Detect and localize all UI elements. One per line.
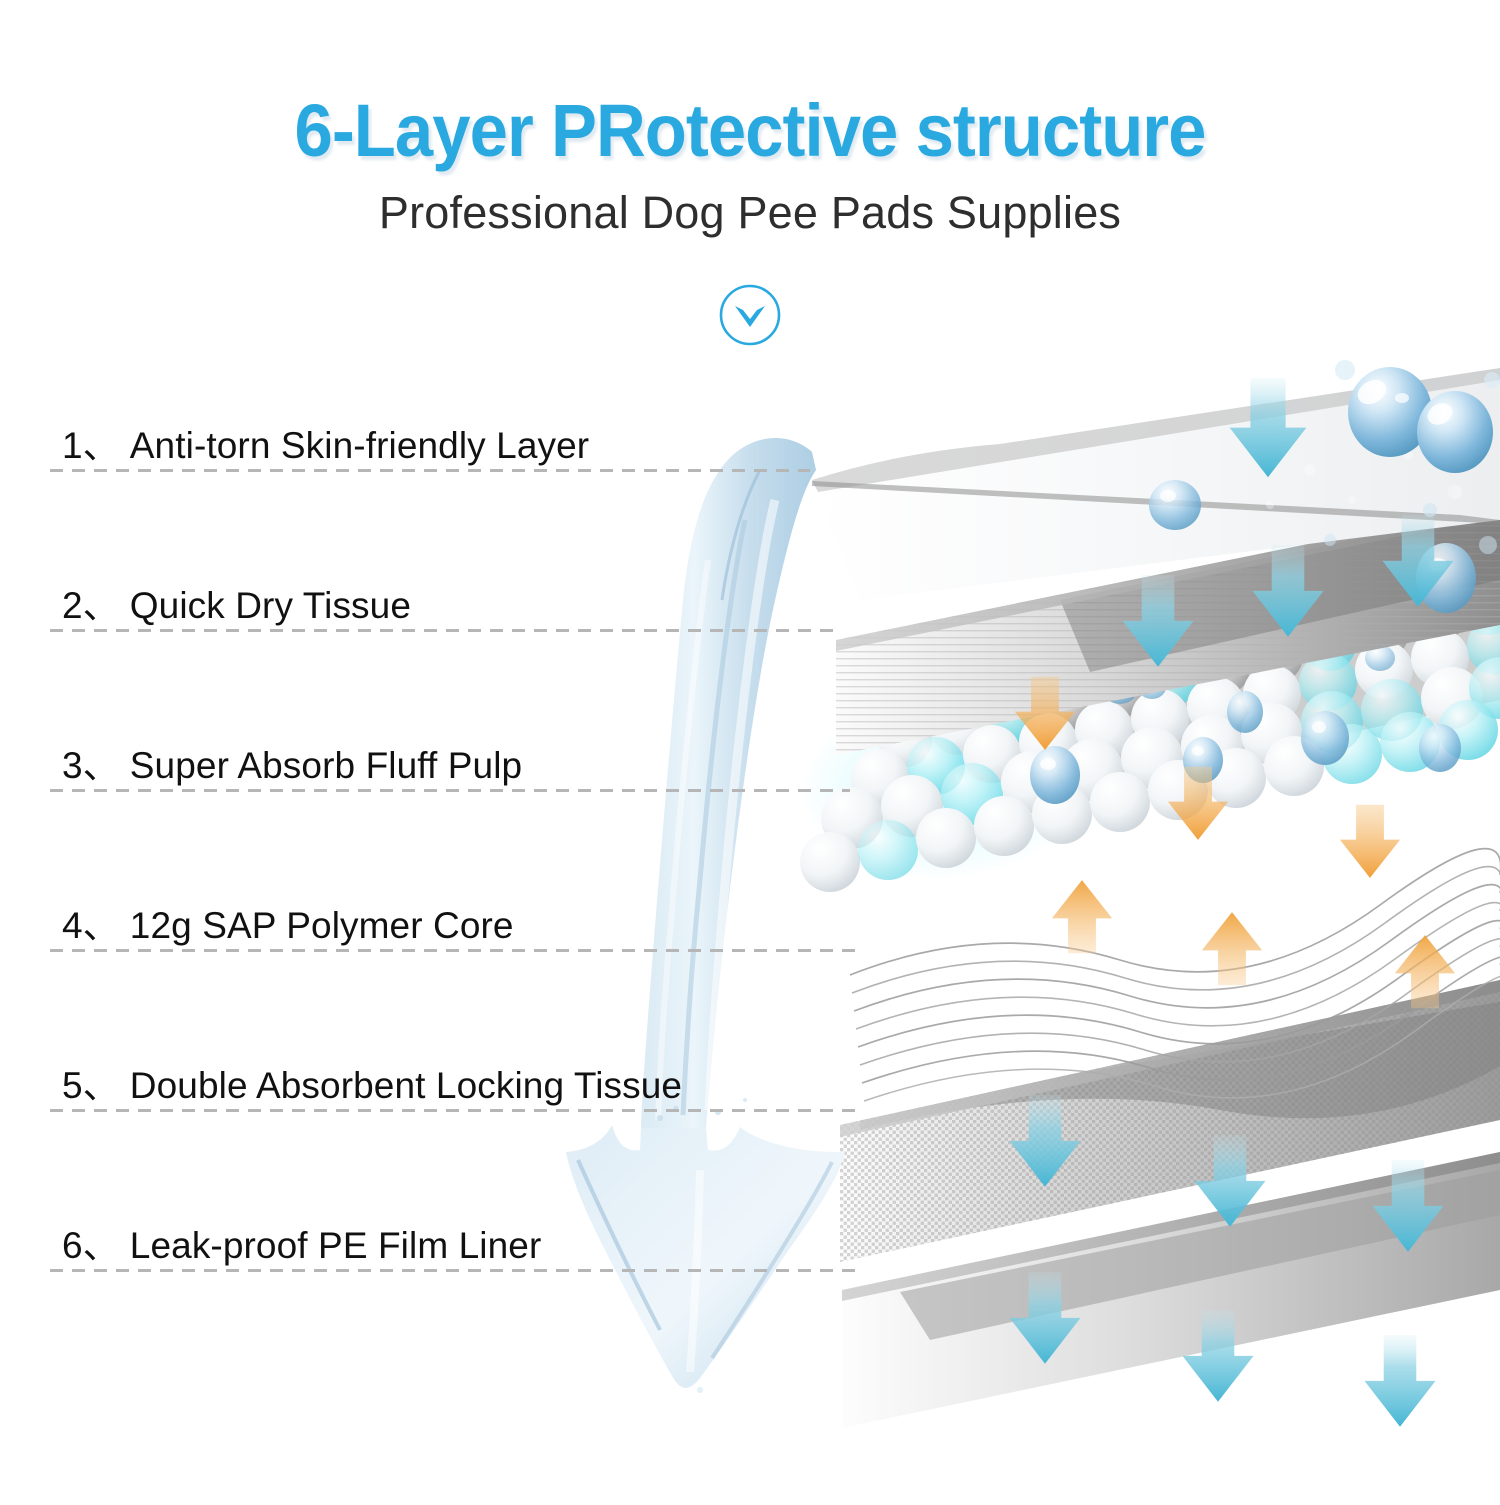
layer-label-1: 1、Anti-torn Skin-friendly Layer	[62, 415, 589, 469]
layer-sheet-3	[800, 581, 1500, 892]
layer-sheet-4	[848, 830, 1500, 1105]
layer-name-1: Anti-torn Skin-friendly Layer	[130, 425, 589, 466]
layer-label-6: 6、Leak-proof PE Film Liner	[62, 1215, 541, 1269]
layer-number-2: 2、	[62, 575, 120, 629]
layer-name-3: Super Absorb Fluff Pulp	[130, 745, 522, 786]
layer-number-4: 4、	[62, 895, 120, 949]
layer-sheet-5	[830, 960, 1500, 1280]
layer-label-4: 4、12g SAP Polymer Core	[62, 895, 514, 949]
layer-divider-5	[50, 1109, 860, 1112]
layer-sheet-6	[842, 1152, 1500, 1428]
layer-row-2: 2、Quick Dry Tissue	[0, 575, 860, 665]
water-droplets-top	[1149, 360, 1500, 613]
layer-row-5: 5、Double Absorbent Locking Tissue	[0, 1055, 860, 1145]
layer-row-1: 1、Anti-torn Skin-friendly Layer	[0, 415, 860, 505]
layer-row-4: 4、12g SAP Polymer Core	[0, 895, 860, 985]
layer-divider-3	[50, 789, 850, 792]
orange-arrow-group	[1015, 677, 1455, 1008]
layer-name-4: 12g SAP Polymer Core	[130, 905, 514, 946]
layer-divider-4	[50, 949, 860, 952]
layer-number-5: 5、	[62, 1055, 120, 1109]
sap-polymer-beads	[800, 581, 1500, 892]
layer-number-1: 1、	[62, 415, 120, 469]
layer-row-3: 3、Super Absorb Fluff Pulp	[0, 735, 860, 825]
layer-sheet-2	[820, 490, 1500, 780]
layer-divider-1	[50, 469, 810, 472]
layer-name-6: Leak-proof PE Film Liner	[130, 1225, 542, 1266]
layer-label-3: 3、Super Absorb Fluff Pulp	[62, 735, 522, 789]
layer-label-list: 1、Anti-torn Skin-friendly Layer 2、Quick …	[0, 0, 900, 1500]
layer-number-6: 6、	[62, 1215, 120, 1269]
layer-name-5: Double Absorbent Locking Tissue	[130, 1065, 682, 1106]
layer-label-5: 5、Double Absorbent Locking Tissue	[62, 1055, 682, 1109]
layer-sheet-1	[812, 368, 1500, 600]
blue-down-arrow-group	[1009, 378, 1453, 1427]
layer-number-3: 3、	[62, 735, 120, 789]
layer-divider-6	[50, 1269, 860, 1272]
layer-divider-2	[50, 629, 840, 632]
water-droplets	[1030, 645, 1461, 804]
layer-label-2: 2、Quick Dry Tissue	[62, 575, 411, 629]
layer-name-2: Quick Dry Tissue	[130, 585, 411, 626]
layer-row-6: 6、Leak-proof PE Film Liner	[0, 1215, 860, 1305]
